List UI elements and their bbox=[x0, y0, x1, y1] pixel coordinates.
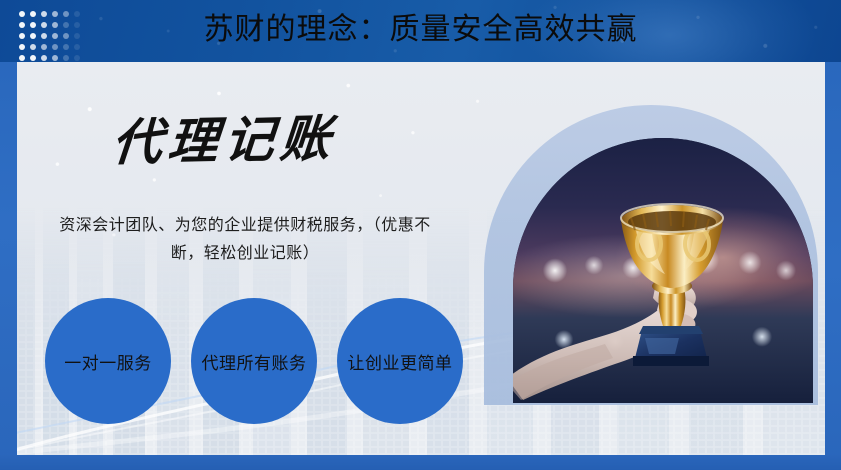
feature-circle-2[interactable]: 代理所有账务 bbox=[191, 298, 317, 424]
content-panel: 代理记账 资深会计团队、为您的企业提供财税服务，（优惠不断，轻松创业记账） 一对… bbox=[17, 62, 825, 455]
feature-circle-2-label: 代理所有账务 bbox=[202, 349, 307, 374]
feature-circle-1[interactable]: 一对一服务 bbox=[45, 298, 171, 424]
page-title: 苏财的理念：质量安全高效共赢 bbox=[0, 8, 841, 52]
frame-right-edge bbox=[825, 62, 841, 470]
slide-root: 苏财的理念：质量安全高效共赢 bbox=[0, 0, 841, 470]
headline-text: 代理记账 bbox=[109, 107, 339, 174]
feature-circle-3[interactable]: 让创业更简单 bbox=[337, 298, 463, 424]
frame-bottom-edge bbox=[0, 455, 841, 470]
feature-circle-3-label: 让创业更简单 bbox=[348, 349, 453, 374]
subtitle-text: 资深会计团队、为您的企业提供财税服务，（优惠不断，轻松创业记账） bbox=[55, 212, 435, 268]
feature-circle-1-label: 一对一服务 bbox=[64, 349, 152, 374]
